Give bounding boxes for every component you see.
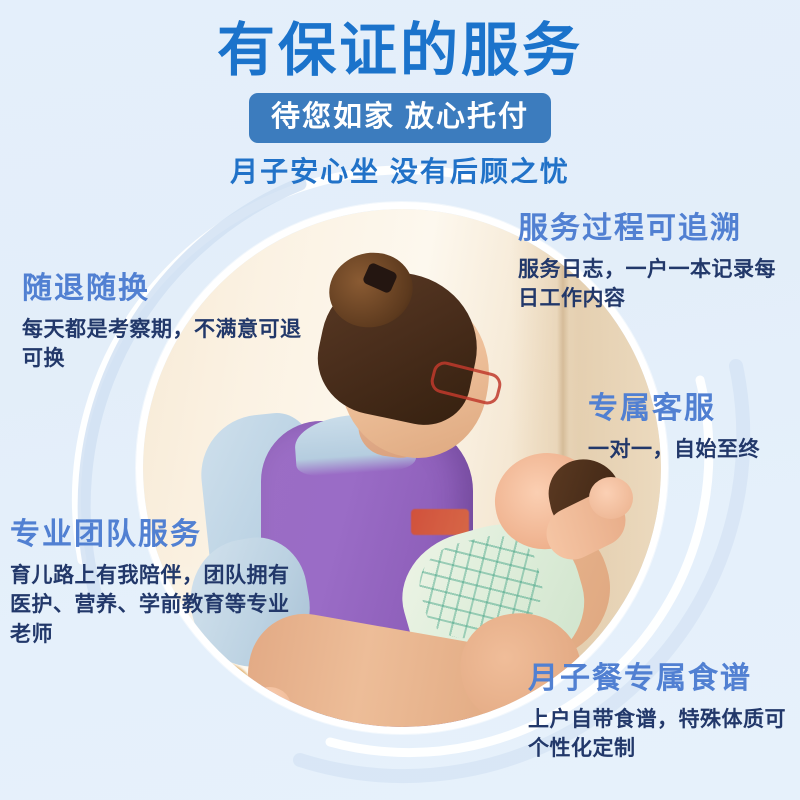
feature-heading: 专业团队服务: [10, 518, 310, 553]
badge-container: 待您如家 放心托付: [0, 93, 800, 143]
poster-header: 有保证的服务 待您如家 放心托付 月子安心坐 没有后顾之忧: [0, 0, 800, 189]
feature-heading: 随退随换: [22, 272, 322, 307]
feature-postpartum-menu: 月子餐专属食谱 上户自带食谱，特殊体质可个性化定制: [528, 662, 796, 764]
feature-heading: 专属客服: [588, 392, 798, 427]
feature-heading: 服务过程可追溯: [518, 212, 790, 247]
baby-fist: [589, 477, 633, 519]
photo-object-basket: [177, 661, 251, 709]
feature-dedicated-support: 专属客服 一对一，自始至终: [588, 392, 798, 464]
feature-body: 每天都是考察期，不满意可退可换: [22, 315, 322, 375]
page-title: 有保证的服务: [0, 0, 800, 85]
feature-body: 育儿路上有我陪伴，团队拥有医护、营养、学前教育等专业老师: [10, 561, 310, 650]
feature-body: 一对一，自始至终: [588, 435, 798, 465]
feature-refund-exchange: 随退随换 每天都是考察期，不满意可退可换: [22, 272, 322, 374]
feature-body: 上户自带食谱，特殊体质可个性化定制: [528, 705, 796, 765]
slogan-badge: 待您如家 放心托付: [249, 93, 551, 143]
feature-heading: 月子餐专属食谱: [528, 662, 796, 697]
poster-canvas: 有保证的服务 待您如家 放心托付 月子安心坐 没有后顾之忧: [0, 0, 800, 800]
page-subtitle: 月子安心坐 没有后顾之忧: [0, 155, 800, 189]
feature-body: 服务日志，一户一本记录每日工作内容: [518, 255, 790, 315]
caregiver-uniform-logo: [411, 509, 469, 535]
feature-traceable-service: 服务过程可追溯 服务日志，一户一本记录每日工作内容: [518, 212, 790, 314]
feature-professional-team: 专业团队服务 育儿路上有我陪伴，团队拥有医护、营养、学前教育等专业老师: [10, 518, 310, 650]
